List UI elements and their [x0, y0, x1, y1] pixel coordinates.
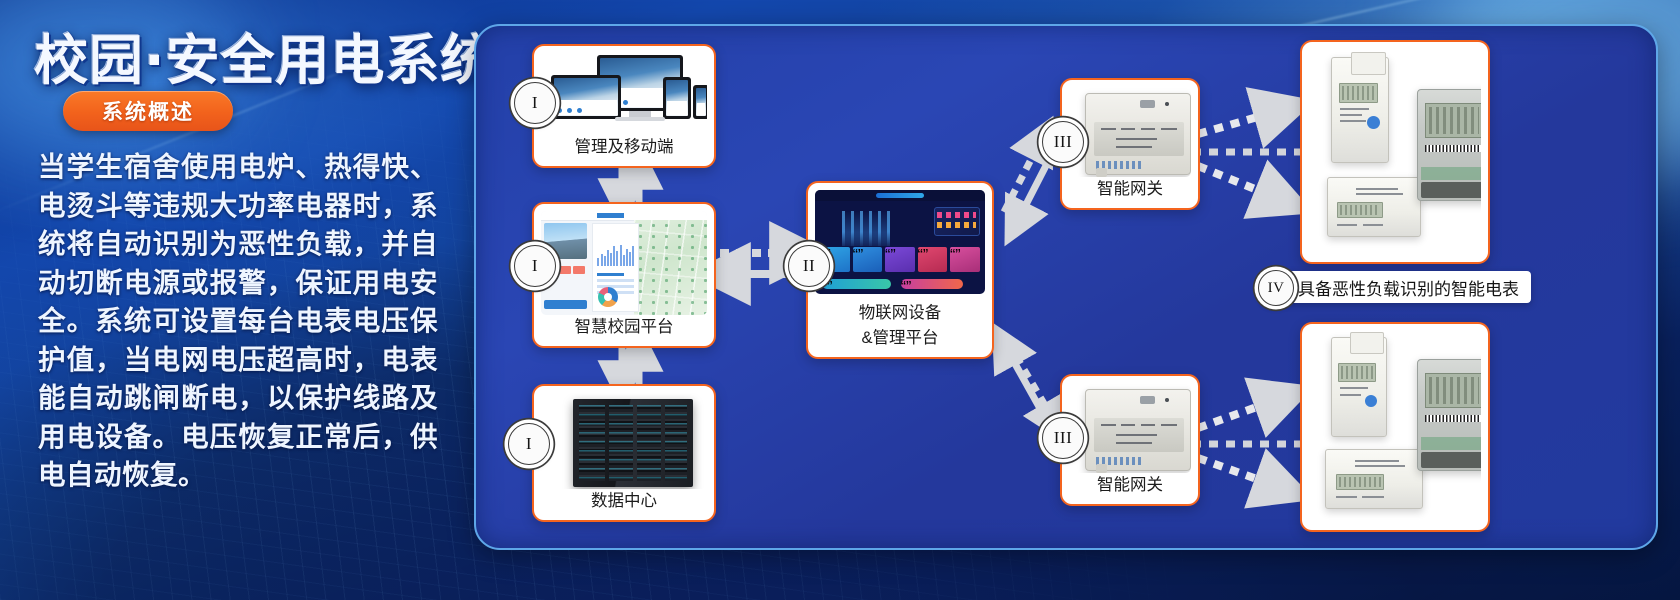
- badge-roman-gateway-top: III: [1042, 121, 1084, 163]
- din-meter-icon: [1331, 337, 1387, 437]
- section-badge-label: 系统概述: [102, 96, 194, 126]
- smart-meters-pill-label: 具备恶性负载识别的智能电表: [1298, 275, 1519, 300]
- meter-top-cap: [1350, 332, 1383, 354]
- architecture-diagram-panel: 管理及移动端 I: [474, 24, 1658, 550]
- campus-map-art: [634, 220, 707, 315]
- city-skyline-art: [842, 211, 890, 246]
- iot-tile-row: [820, 247, 980, 272]
- badge-roman-gateway-bottom: III: [1042, 417, 1084, 459]
- din-rail-clip: [1096, 464, 1106, 473]
- meter-print: [1340, 114, 1362, 116]
- gateway-faceplate: [1094, 122, 1183, 156]
- meter-lcd: [1339, 83, 1378, 103]
- usb-port: [1140, 396, 1155, 403]
- node-data-center[interactable]: 数据中心: [532, 384, 716, 522]
- gateway-device-icon: [1085, 93, 1191, 175]
- badge-roman-admin-mobile: I: [514, 82, 556, 124]
- meter-lcd: [1337, 202, 1383, 218]
- meter-print: [1337, 224, 1357, 226]
- node-admin-mobile-label: 管理及移动端: [534, 137, 714, 158]
- meter-print: [1355, 460, 1399, 462]
- iot-dashboard-header: [815, 190, 985, 201]
- node-smart-meters-pill[interactable]: 具备恶性负载识别的智能电表: [1264, 271, 1531, 303]
- node-gateway-top-label: 智能网关: [1062, 179, 1198, 200]
- iot-alert-panel: [934, 207, 980, 236]
- progress-lines-art: [597, 273, 634, 287]
- meter-print: [1340, 120, 1366, 122]
- arrow-gateway-top-meters: [1198, 110, 1282, 200]
- badge-roman-data-center: I: [508, 423, 550, 465]
- left-intro-column: 校园·安全用电系统 系统概述 当学生宿舍使用电炉、热得快、电烫斗等违规大功率电器…: [0, 0, 470, 600]
- node-smart-meters-top[interactable]: [1300, 40, 1490, 264]
- meter-print: [1340, 394, 1362, 396]
- monitor-base: [615, 117, 665, 121]
- three-phase-meter-icon: [1417, 89, 1481, 201]
- arrow-gateway-bottom-meters: [1198, 398, 1282, 488]
- page-title: 校园·安全用电系统: [34, 16, 454, 95]
- meter-lcd: [1338, 363, 1376, 382]
- meter-print: [1355, 465, 1405, 467]
- gateway-faceplate: [1094, 418, 1183, 452]
- smart-campus-screenshot: [541, 211, 707, 315]
- meter-print: [1356, 188, 1398, 190]
- bar-chart-art: [597, 243, 634, 266]
- arrow-admin-campus: [622, 166, 639, 202]
- gateway-device-icon: [1085, 389, 1191, 471]
- section-badge: 系统概述: [63, 91, 233, 131]
- gateway-bottom-photo: [1069, 383, 1191, 473]
- meter2-barcode: [1425, 145, 1481, 152]
- server-rack-icon: [573, 399, 693, 487]
- meter-button: [1365, 395, 1377, 407]
- meter-print: [1362, 496, 1383, 498]
- badge-roman-iot-platform: II: [788, 245, 830, 287]
- meter-print: [1336, 496, 1357, 498]
- meter2-barcode: [1425, 415, 1481, 422]
- meter-print: [1340, 108, 1369, 110]
- node-iot-platform-label: 物联网设备 &管理平台: [808, 301, 992, 351]
- arrow-campus-datacenter: [622, 348, 639, 384]
- iot-label-line1: 物联网设备: [808, 301, 992, 326]
- meter2-display: [1425, 103, 1481, 138]
- data-center-screenshot: [541, 393, 707, 489]
- node-admin-mobile[interactable]: 管理及移动端: [532, 44, 716, 168]
- dashboard-chart-column: [592, 223, 639, 312]
- badge-roman-smart-meters: IV: [1258, 270, 1294, 306]
- stat-tile: [559, 266, 571, 274]
- meter2-terminal-cover: [1421, 452, 1481, 467]
- iot-label-line2: &管理平台: [808, 326, 992, 351]
- node-data-center-label: 数据中心: [534, 491, 714, 512]
- meter-print: [1340, 387, 1368, 389]
- usb-port: [1140, 100, 1155, 107]
- meter-top-photo: [1309, 49, 1481, 255]
- meter-button: [1367, 116, 1380, 129]
- iot-footer-chips: [822, 279, 978, 288]
- node-iot-platform[interactable]: 物联网设备 &管理平台: [806, 181, 994, 359]
- node-smart-meters-bottom[interactable]: [1300, 322, 1490, 532]
- laptop-icon: [551, 75, 621, 119]
- three-phase-meter-icon: [1417, 359, 1481, 471]
- meter-lcd: [1336, 474, 1384, 490]
- meter-print: [1363, 224, 1383, 226]
- din-rail-clip: [1096, 168, 1106, 177]
- iot-platform-screenshot: [815, 190, 985, 294]
- gateway-top-photo: [1069, 87, 1191, 177]
- status-led: [1165, 398, 1169, 402]
- tablet-icon: [663, 77, 691, 119]
- din-meter-icon: [1331, 57, 1389, 163]
- admin-mobile-screenshot: [541, 53, 707, 133]
- stat-tile: [573, 266, 585, 274]
- meter-bottom-photo: [1309, 331, 1481, 523]
- node-gateway-bottom-label: 智能网关: [1062, 475, 1198, 496]
- meter2-display: [1425, 373, 1481, 408]
- din-meter-icon-wide: [1327, 177, 1421, 237]
- meter2-terminal-cover: [1421, 182, 1481, 197]
- campus-dashboard-art: [541, 211, 707, 315]
- meter2-seal-band: [1421, 167, 1481, 180]
- node-smart-campus[interactable]: 智慧校园平台: [532, 202, 716, 348]
- meter-print: [1356, 193, 1404, 195]
- dashboard-primary-button[interactable]: [544, 300, 587, 309]
- status-led: [1165, 102, 1169, 106]
- meter-top-cap: [1351, 52, 1385, 75]
- din-meter-icon-wide: [1325, 449, 1423, 509]
- iot-dashboard-art: [815, 190, 985, 294]
- arrow-iot-gateway-bottom: [1004, 344, 1056, 424]
- badge-roman-smart-campus: I: [514, 245, 556, 287]
- overview-paragraph: 当学生宿舍使用电炉、热得快、电烫斗等违规大功率电器时，系统将自动识别为恶性负载，…: [38, 148, 438, 495]
- meter2-seal-band: [1421, 437, 1481, 450]
- donut-chart-art: [598, 287, 618, 307]
- phone-icon: [693, 85, 707, 119]
- node-smart-campus-label: 智慧校园平台: [534, 317, 714, 338]
- poster-stage: 校园·安全用电系统 系统概述 当学生宿舍使用电炉、热得快、电烫斗等违规大功率电器…: [0, 0, 1680, 600]
